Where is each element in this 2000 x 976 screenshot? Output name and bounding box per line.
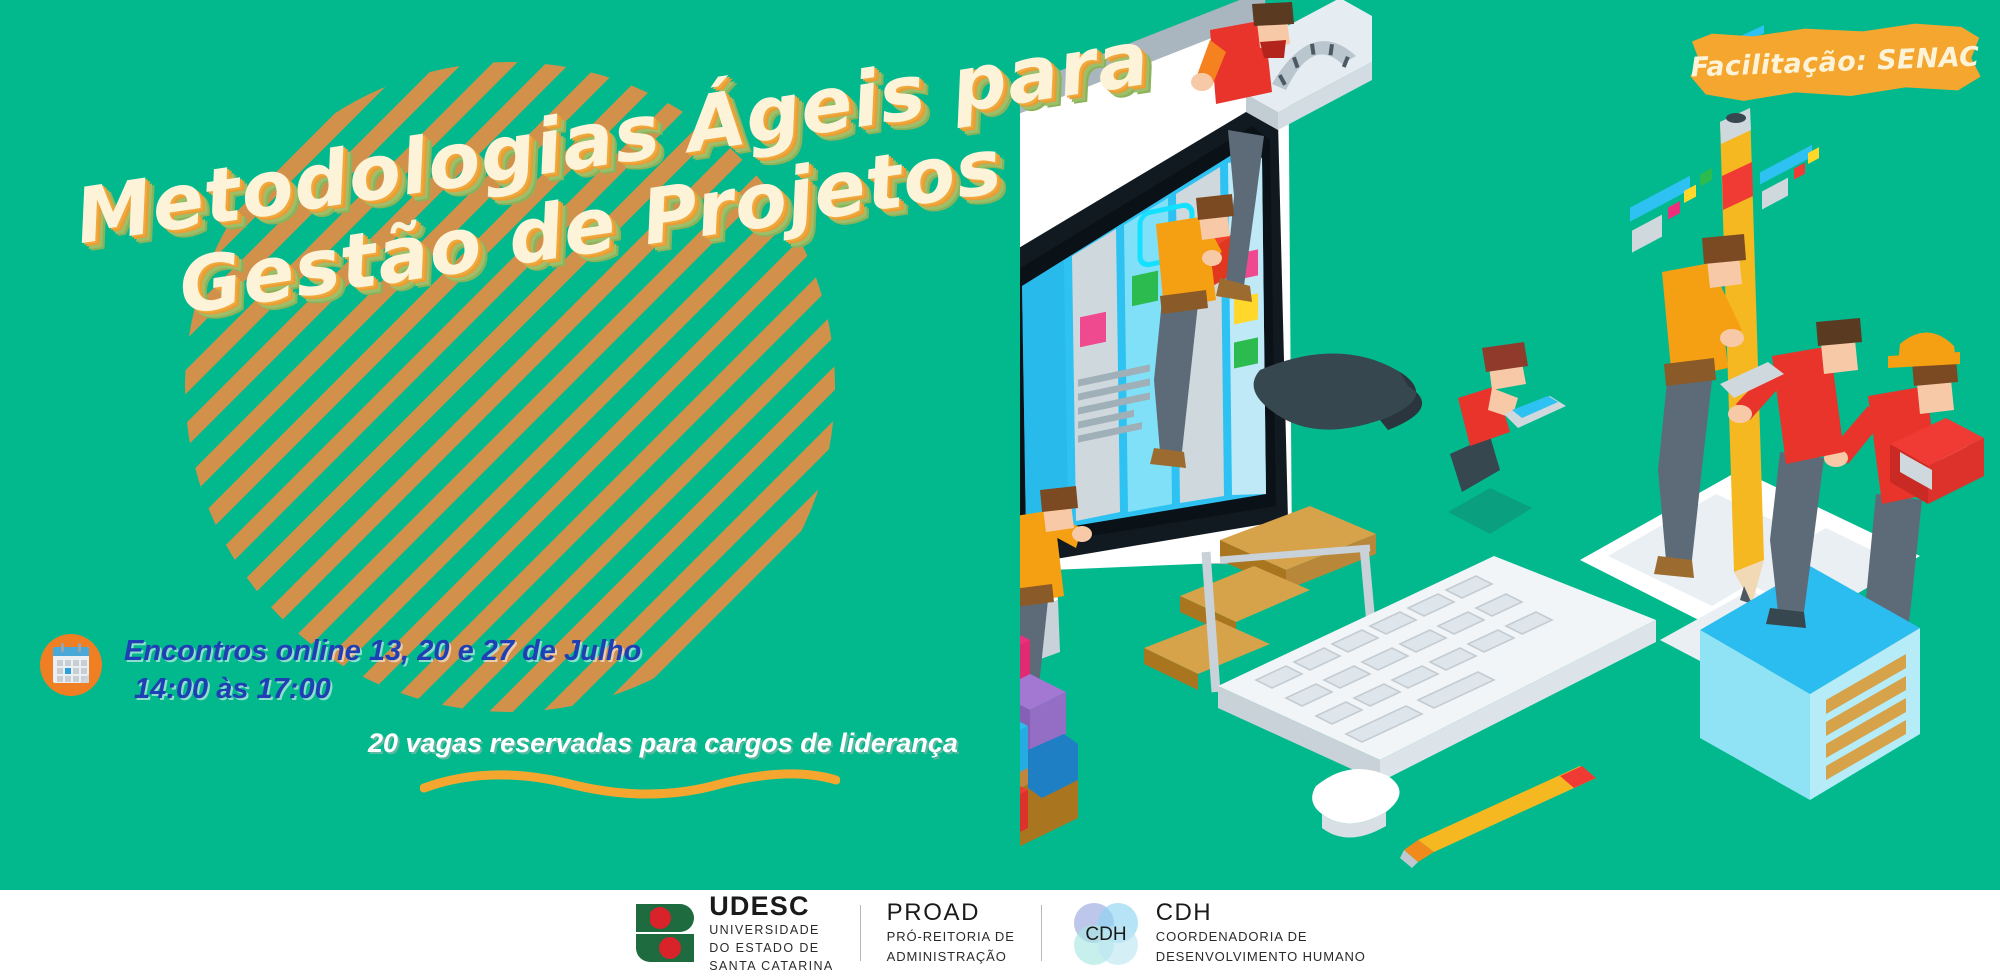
udesc-line-1: UNIVERSIDADE [709,922,833,938]
schedule-hours: 14:00 às 17:00 [124,670,641,708]
cdh-text: CDH COORDENADORIA DE DESENVOLVIMENTO HUM… [1156,900,1366,966]
worker-with-tablet [1448,342,1566,534]
udesc-mark-icon [634,902,696,964]
block-crate [1020,622,1078,856]
cdh-logo: CDH CDH COORDENADORIA DE DESENVOLVIMENTO… [1068,900,1366,966]
event-banner: Metodologias Ágeis para Gestão de Projet… [0,0,2000,976]
pencil-lying [1400,766,1596,868]
isometric-illustration [1020,0,2000,890]
cdh-mark-icon: CDH [1068,901,1144,965]
squiggle-underline [420,762,840,806]
schedule-dates: Encontros online 13, 20 e 27 de Julho [124,632,641,670]
cdh-line-1: COORDENADORIA DE [1156,929,1366,946]
udesc-line-3: SANTA CATARINA [709,958,833,974]
schedule-block: Encontros online 13, 20 e 27 de Julho 14… [40,630,641,709]
banner-stage: Metodologias Ágeis para Gestão de Projet… [0,0,2000,890]
schedule-text: Encontros online 13, 20 e 27 de Julho 14… [124,630,641,709]
proad-logo: PROAD PRÓ-REITORIA DE ADMINISTRAÇÃO [887,900,1015,966]
udesc-acronym: UDESC [709,893,833,920]
slots-note: 20 vagas reservadas para cargos de lider… [368,728,958,759]
svg-text:CDH: CDH [1085,924,1126,945]
cdh-acronym: CDH [1156,900,1366,926]
footer-divider-2 [1041,905,1042,961]
udesc-text: UDESC UNIVERSIDADE DO ESTADO DE SANTA CA… [709,893,833,974]
udesc-line-2: DO ESTADO DE [709,940,833,956]
udesc-logo: UDESC UNIVERSIDADE DO ESTADO DE SANTA CA… [634,893,833,974]
calendar-icon [40,634,102,696]
facilitator-badge: Facilitação: SENAC [1690,26,1980,98]
proad-line-2: ADMINISTRAÇÃO [887,949,1015,966]
footer-divider-1 [860,905,861,961]
proad-line-1: PRÓ-REITORIA DE [887,929,1015,946]
footer-logo-bar: UDESC UNIVERSIDADE DO ESTADO DE SANTA CA… [0,890,2000,976]
cdh-line-2: DESENVOLVIMENTO HUMANO [1156,949,1366,966]
facilitator-badge-label: Facilitação: SENAC [1689,20,1982,103]
proad-acronym: PROAD [887,900,1015,926]
mouse [1312,769,1399,838]
